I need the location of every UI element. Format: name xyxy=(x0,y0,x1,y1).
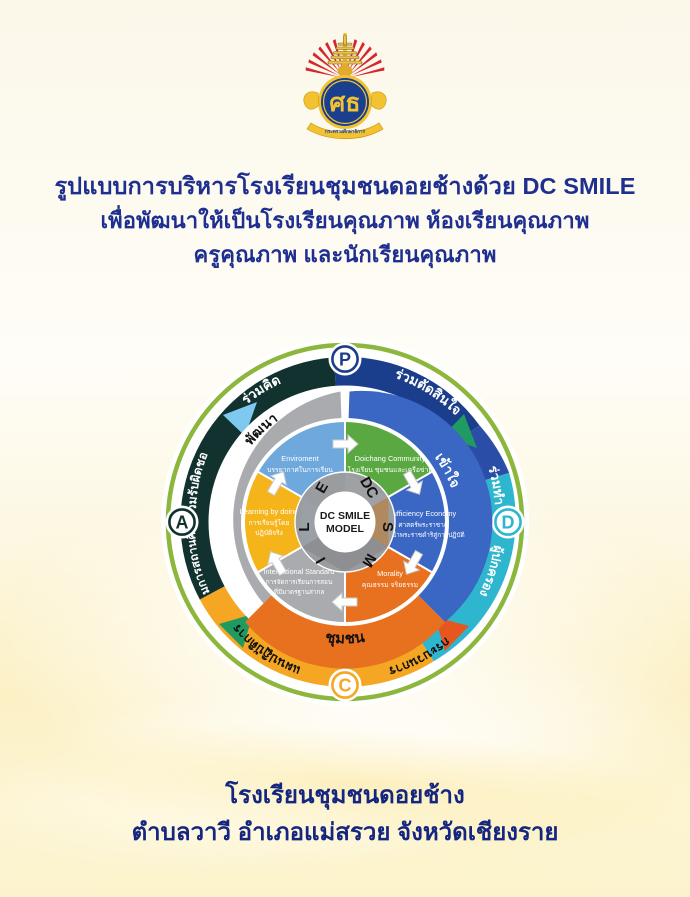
ministry-emblem: ศธ กระทรวงศึกษาธิการ xyxy=(0,22,690,154)
svg-text:ศาสตร์พระราชา/: ศาสตร์พระราชา/ xyxy=(399,521,446,529)
svg-text:Morality: Morality xyxy=(377,569,403,578)
title-line-1: รูปแบบการบริหารโรงเรียนชุมชนดอยช้างด้วย … xyxy=(0,168,690,204)
svg-text:Enviroment: Enviroment xyxy=(281,454,318,463)
inner-text-international-standard: International Standard การจัดการเรียนการ… xyxy=(264,567,335,596)
svg-text:การเรียนรู้โดย: การเรียนรู้โดย xyxy=(249,519,290,527)
poster-title: รูปแบบการบริหารโรงเรียนชุมชนดอยช้างด้วย … xyxy=(0,168,690,272)
svg-text:A: A xyxy=(176,513,189,533)
middle-label-chumchon: ชุมชน xyxy=(324,629,366,648)
pdca-badge-p[interactable]: P xyxy=(329,343,362,376)
svg-text:คุณธรรม จริยธรรม: คุณธรรม จริยธรรม xyxy=(362,581,418,589)
svg-text:ที่มีมาตรฐานสากล: ที่มีมาตรฐานสากล xyxy=(274,587,325,596)
hub-core xyxy=(315,492,376,553)
dc-smile-wheel: ร่วมคิด ร่วมตัดสินใจ ร่วมทำ ผู้ปกครอง กร… xyxy=(159,336,531,708)
svg-text:Sufficiency Economy: Sufficiency Economy xyxy=(388,509,457,518)
title-line-2: เพื่อพัฒนาให้เป็นโรงเรียนคุณภาพ ห้องเรีย… xyxy=(0,204,690,238)
svg-text:กระทรวงศึกษาธิการ: กระทรวงศึกษาธิการ xyxy=(325,128,366,134)
hub-letter-s: S xyxy=(379,522,396,532)
pdca-badge-c[interactable]: C xyxy=(329,669,362,702)
title-line-3: ครูคุณภาพ และนักเรียนคุณภาพ xyxy=(0,238,690,272)
svg-text:โรงเรียน ชุมชนและเครือข่าย: โรงเรียน ชุมชนและเครือข่าย xyxy=(348,465,433,474)
svg-text:ศธ: ศธ xyxy=(329,90,360,117)
svg-text:บรรยากาศในการเรียน: บรรยากาศในการเรียน xyxy=(267,466,333,474)
pdca-badge-d[interactable]: D xyxy=(492,506,525,539)
svg-text:D: D xyxy=(502,513,515,533)
svg-text:C: C xyxy=(339,676,352,696)
hub-core-line1: DC SMILE xyxy=(320,510,370,522)
svg-text:ปฏิบัติจริง: ปฏิบัติจริง xyxy=(255,529,283,537)
svg-text:Learning by doing: Learning by doing xyxy=(240,507,299,516)
poster-canvas: ศธ กระทรวงศึกษาธิการ รูปแบบการบริหารโรงเ… xyxy=(0,0,690,897)
dc-smile-wheel-svg: ร่วมคิด ร่วมตัดสินใจ ร่วมทำ ผู้ปกครอง กร… xyxy=(159,336,531,708)
svg-text:P: P xyxy=(339,350,351,370)
hub-letters: DC S M I L E DC SMILE MODEL xyxy=(295,472,396,572)
svg-text:การจัดการเรียนการสอน: การจัดการเรียนการสอน xyxy=(266,578,333,586)
svg-text:Doichang Community: Doichang Community xyxy=(355,454,426,463)
ministry-emblem-icon: ศธ กระทรวงศึกษาธิการ xyxy=(297,23,393,153)
pdca-badge-a[interactable]: A xyxy=(166,506,199,539)
footer-school-name: โรงเรียนชุมชนดอยช้าง xyxy=(0,778,690,814)
poster-footer: โรงเรียนชุมชนดอยช้าง ตำบลวาวี อำเภอแม่สร… xyxy=(0,778,690,852)
hub-core-line2: MODEL xyxy=(326,523,365,535)
svg-text:International Standard: International Standard xyxy=(264,567,335,576)
footer-address: ตำบลวาวี อำเภอแม่สรวย จังหวัดเชียงราย xyxy=(0,814,690,852)
hub-letter-l: L xyxy=(296,522,313,531)
